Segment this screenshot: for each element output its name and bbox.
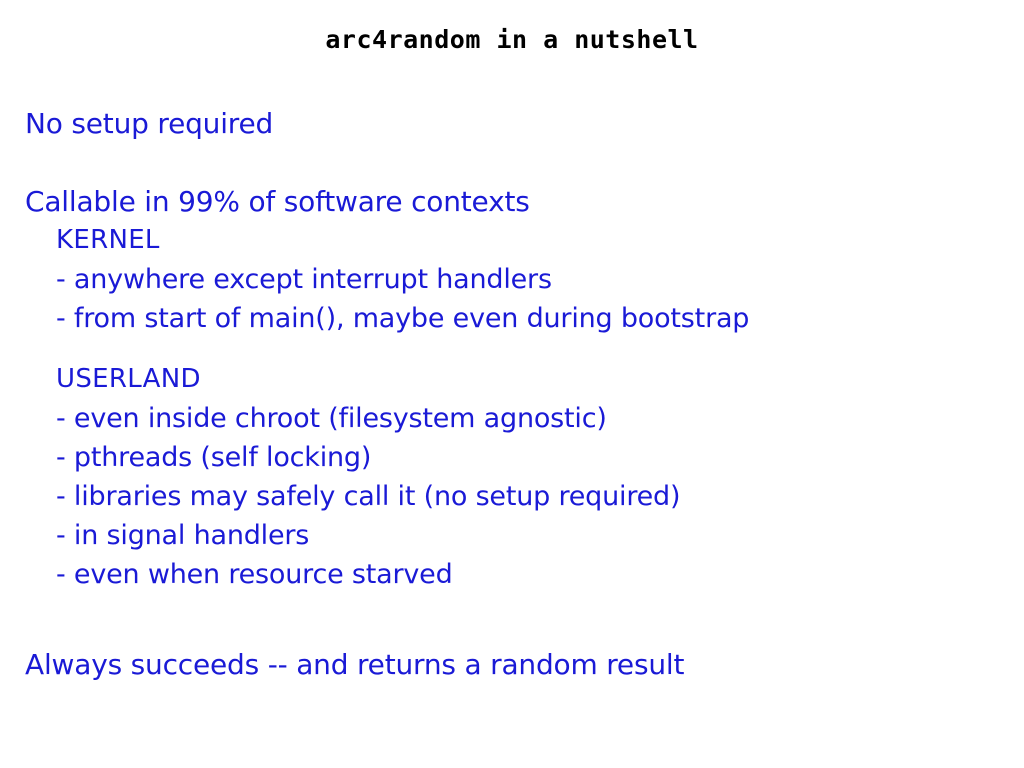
slide-body: No setup required Callable in 99% of sof… [0, 104, 1024, 684]
spacer-1 [0, 143, 1024, 182]
bullet-no-setup-required: No setup required [25, 104, 1024, 143]
page-title: arc4random in a nutshell [0, 25, 1024, 55]
bullet-userland-resource-starved: - even when resource starved [56, 555, 1024, 594]
bullet-userland-signal-handlers: - in signal handlers [56, 516, 1024, 555]
bullet-always-succeeds: Always succeeds -- and returns a random … [25, 645, 1024, 684]
heading-userland: USERLAND [56, 360, 1024, 399]
slide-canvas: arc4random in a nutshell No setup requir… [0, 0, 1024, 768]
spacer-4 [0, 633, 1024, 645]
heading-kernel: KERNEL [56, 221, 1024, 260]
spacer-3 [0, 594, 1024, 633]
bullet-userland-libraries: - libraries may safely call it (no setup… [56, 477, 1024, 516]
spacer-2 [0, 338, 1024, 360]
bullet-kernel-from-start-of-main: - from start of main(), maybe even durin… [56, 299, 1024, 338]
bullet-userland-pthreads: - pthreads (self locking) [56, 438, 1024, 477]
bullet-callable-contexts: Callable in 99% of software contexts [25, 182, 1024, 221]
bullet-kernel-anywhere-except-interrupt-handlers: - anywhere except interrupt handlers [56, 260, 1024, 299]
bullet-userland-chroot: - even inside chroot (filesystem agnosti… [56, 399, 1024, 438]
